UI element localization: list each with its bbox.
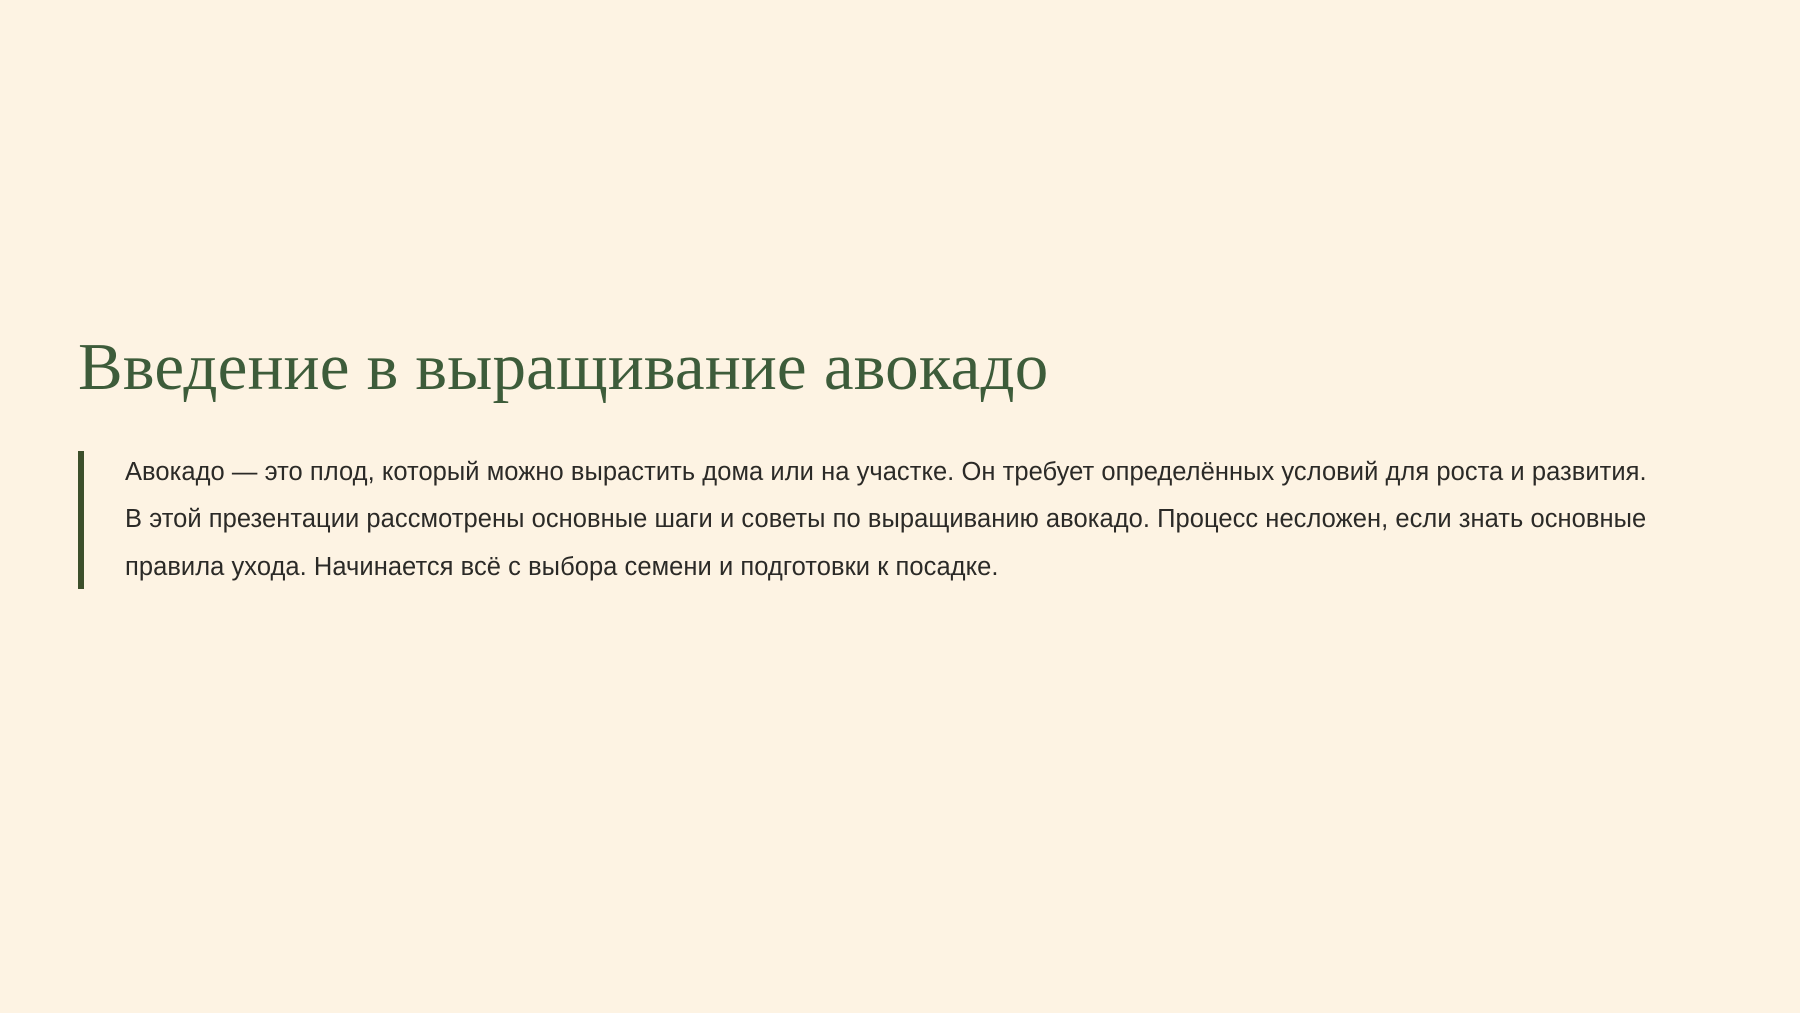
body-paragraph: Авокадо — это плод, который можно выраст… [125,449,1670,591]
page-title: Введение в выращивание авокадо [78,330,1698,405]
body-callout-block: Авокадо — это плод, который можно выраст… [78,449,1698,591]
presentation-slide: Введение в выращивание авокадо Авокадо —… [0,0,1800,1013]
accent-bar [78,451,84,589]
slide-content-area: Введение в выращивание авокадо Авокадо —… [78,330,1698,591]
